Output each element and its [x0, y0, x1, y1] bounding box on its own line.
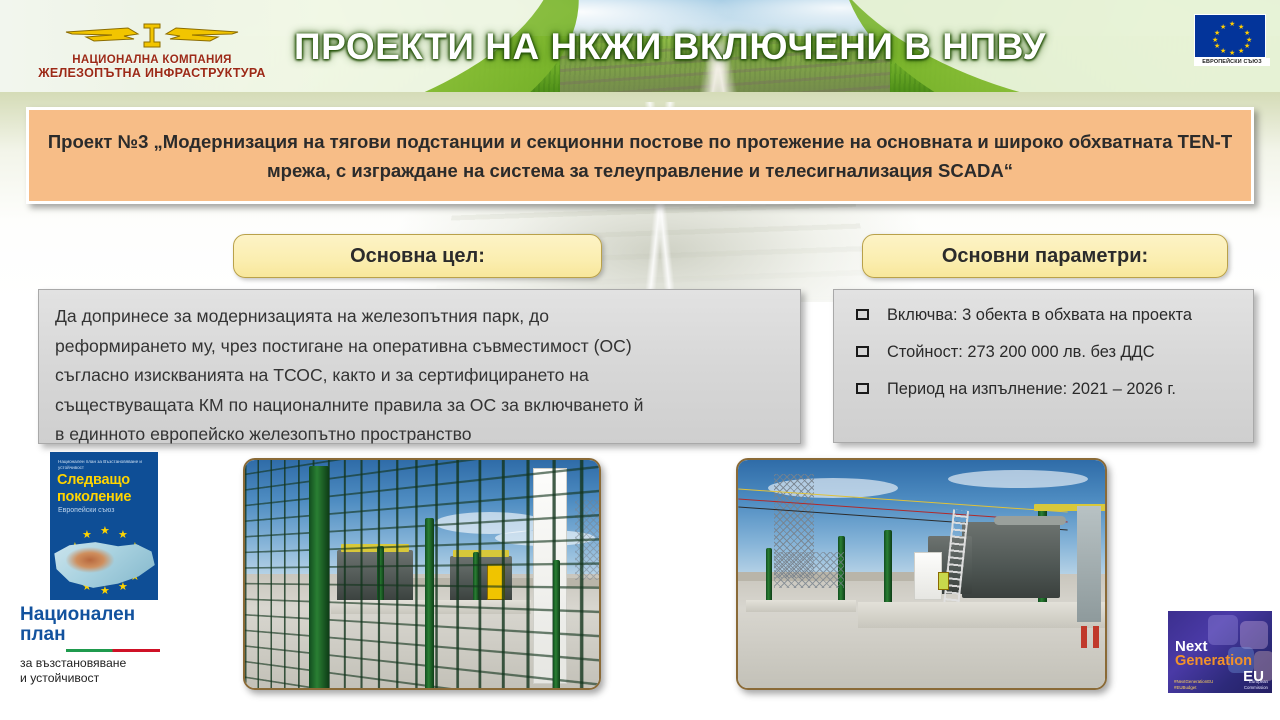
eu-emblem: ★ ★ ★ ★ ★ ★ ★ ★ ★ ★ ★ ★ ЕВРОПЕЙСКИ СЪЮЗ	[1194, 14, 1270, 66]
photo-transformer-conservator	[994, 516, 1066, 525]
parameters-content-box: Включва: 3 обекта в обхвата на проекта С…	[833, 289, 1254, 443]
project-title-box: Проект №3 „Модернизация на тягови подста…	[26, 107, 1254, 204]
section-heading-goal-label: Основна цел:	[350, 245, 485, 268]
section-heading-parameters-label: Основни параметри:	[942, 245, 1148, 268]
photo-cloud	[948, 470, 1088, 488]
photo-main-transformer	[962, 522, 1060, 598]
ngeu-next-label: Next	[1175, 639, 1208, 654]
goal-text-line-5: в единното европейско железопътно простр…	[55, 420, 784, 450]
npvu-subtitle-line2: и устойчивост	[20, 671, 173, 686]
npvu-flag-topline: Национален план за Възстановяване и усто…	[58, 459, 158, 471]
list-item: Период на изпълнение: 2021 – 2026 г.	[848, 378, 1243, 400]
ngeu-hashtag-line2: #EUBudget	[1174, 685, 1213, 690]
photo-substation-transformers	[736, 458, 1107, 690]
ngeu-generation-label: Generation	[1175, 654, 1252, 669]
section-heading-goal: Основна цел:	[233, 234, 602, 278]
project-title-text: Проект №3 „Модернизация на тягови подста…	[45, 127, 1235, 185]
npvu-subtitle: за възстановяване и устойчивост	[20, 656, 173, 686]
parameter-value: Стойност: 273 200 000 лв. без ДДС	[887, 341, 1155, 363]
photo-concrete-plinth	[858, 602, 1107, 628]
photo-fence-post	[425, 518, 434, 690]
photo-red-marker	[1093, 626, 1099, 648]
photo-green-support	[766, 548, 772, 604]
ngeu-hashtag-line1: #NextGenerationEU	[1174, 679, 1213, 684]
npvu-flag-title: Следващо поколение	[57, 472, 131, 505]
ngeu-ec-line2: Commission	[1244, 685, 1268, 690]
section-heading-parameters: Основни параметри:	[862, 234, 1228, 278]
ngeu-photo-tile	[1208, 615, 1238, 645]
goal-text-line-4: съществуващата КМ по националните правил…	[55, 391, 784, 421]
npvu-subtitle-line1: за възстановяване	[20, 656, 173, 671]
npvu-flag-title-line2: поколение	[57, 489, 131, 506]
goal-text-line-1: Да допринесе за модернизацията на железо…	[55, 302, 784, 332]
npvu-title-line2: план	[20, 625, 173, 645]
checkbox-bullet-icon	[856, 383, 869, 394]
ngeu-hashtags: #NextGenerationEU #EUBudget	[1174, 679, 1213, 690]
eu-flag-icon: ★ ★ ★ ★ ★ ★ ★ ★ ★ ★ ★ ★	[1194, 14, 1266, 58]
list-item: Включва: 3 обекта в обхвата на проекта	[848, 304, 1243, 326]
photo-concrete-plinth	[746, 600, 856, 612]
npvu-flag-subtitle: Европейски съюз	[58, 507, 115, 514]
winged-wheel-rail-logo-icon	[64, 22, 240, 52]
photo-warning-sign	[938, 572, 949, 590]
checkbox-bullet-icon	[856, 309, 869, 320]
ngeu-photo-tile	[1240, 621, 1268, 649]
eu-flag-caption: ЕВРОПЕЙСКИ СЪЮЗ	[1194, 58, 1270, 66]
checkbox-bullet-icon	[856, 346, 869, 357]
list-item: Стойност: 273 200 000 лв. без ДДС	[848, 341, 1243, 363]
goal-text-line-3: съгласно изискванията на ТСОС, както и з…	[55, 361, 784, 391]
photo-fence-post	[553, 560, 560, 690]
photo-red-marker	[1081, 626, 1087, 648]
npvu-logo: Национален план за Възстановяване и усто…	[8, 452, 173, 686]
npvu-title: Национален план	[20, 605, 173, 645]
parameter-scope: Включва: 3 обекта в обхвата на проекта	[887, 304, 1192, 326]
page-title: ПРОЕКТИ НА НКЖИ ВКЛЮЧЕНИ В НПВУ	[290, 24, 1050, 72]
photo-side-structure	[1077, 506, 1101, 622]
goal-text: Да допринесе за модернизацията на железо…	[55, 302, 784, 450]
npvu-flag-title-line1: Следващо	[57, 472, 131, 489]
next-generation-eu-logo: Next Generation EU #NextGenerationEU #EU…	[1168, 611, 1272, 693]
npvu-title-line1: Национален	[20, 605, 173, 625]
nkzhi-logo: НАЦИОНАЛНА КОМПАНИЯ ЖЕЛЕЗОПЪТНА ИНФРАСТР…	[12, 22, 292, 88]
npvu-flag: Национален план за Възстановяване и усто…	[50, 452, 158, 600]
parameter-period: Период на изпълнение: 2021 – 2026 г.	[887, 378, 1176, 400]
photo-substation-fence	[243, 458, 601, 690]
bulgaria-tricolor-divider	[20, 649, 160, 652]
photo-disconnector	[774, 552, 844, 588]
photo-mesh-fence	[245, 458, 601, 690]
nkzhi-logo-line2: ЖЕЛЕЗОПЪТНА ИНФРАСТРУКТУРА	[12, 67, 292, 80]
goal-text-line-2: реформирането му, чрез постигане на опер…	[55, 332, 784, 362]
ngeu-european-commission: European Commission	[1244, 679, 1268, 690]
photo-fence-post-front	[309, 466, 329, 690]
photo-green-support	[884, 530, 892, 608]
npvu-bulgaria-map-icon	[50, 540, 158, 592]
goal-content-box: Да допринесе за модернизацията на железо…	[38, 289, 801, 444]
presentation-slide: НАЦИОНАЛНА КОМПАНИЯ ЖЕЛЕЗОПЪТНА ИНФРАСТР…	[0, 0, 1280, 720]
